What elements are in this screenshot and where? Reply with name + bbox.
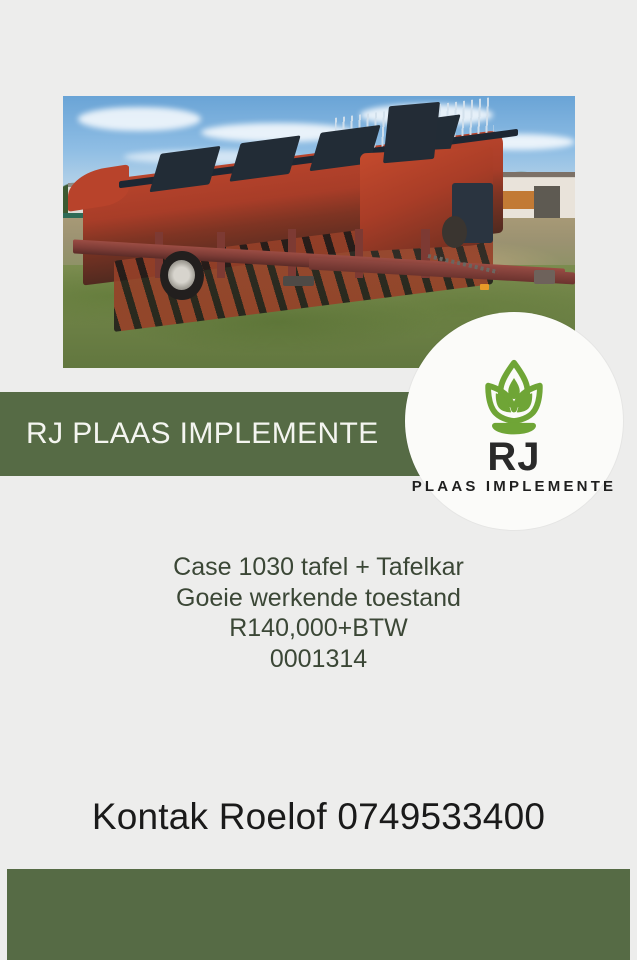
trailer-wheel-rim	[168, 260, 195, 290]
listing-description: Case 1030 tafel + Tafelkar Goeie werkend…	[0, 552, 637, 674]
listing-line-condition: Goeie werkende toestand	[0, 583, 637, 614]
contact-line[interactable]: Kontak Roelof 0749533400	[0, 796, 637, 838]
header-end-box	[383, 102, 440, 164]
trailer-hitch	[283, 276, 314, 287]
footer-bar	[7, 869, 630, 960]
amber-reflector	[480, 284, 489, 291]
logo-badge[interactable]: RJ PLAAS IMPLEMENTE	[405, 312, 623, 530]
page-title: RJ PLAAS IMPLEMENTE	[0, 417, 379, 451]
logo-subtitle: PLAAS IMPLEMENTE	[412, 478, 617, 495]
leaf-crown-icon	[466, 357, 562, 443]
listing-line-model: Case 1030 tafel + Tafelkar	[0, 552, 637, 583]
listing-line-price: R140,000+BTW	[0, 613, 637, 644]
reel-bat	[150, 147, 221, 193]
listing-line-stock-number: 0001314	[0, 644, 637, 675]
advertisement-poster: RJ PLAAS IMPLEMENTE RJ PLAAS IMPLEMENTE …	[0, 0, 637, 960]
logo-initials: RJ	[487, 439, 540, 476]
trailer-jack	[534, 270, 554, 284]
brand-title-bar: RJ PLAAS IMPLEMENTE	[0, 392, 470, 476]
reel-bat	[229, 136, 300, 182]
